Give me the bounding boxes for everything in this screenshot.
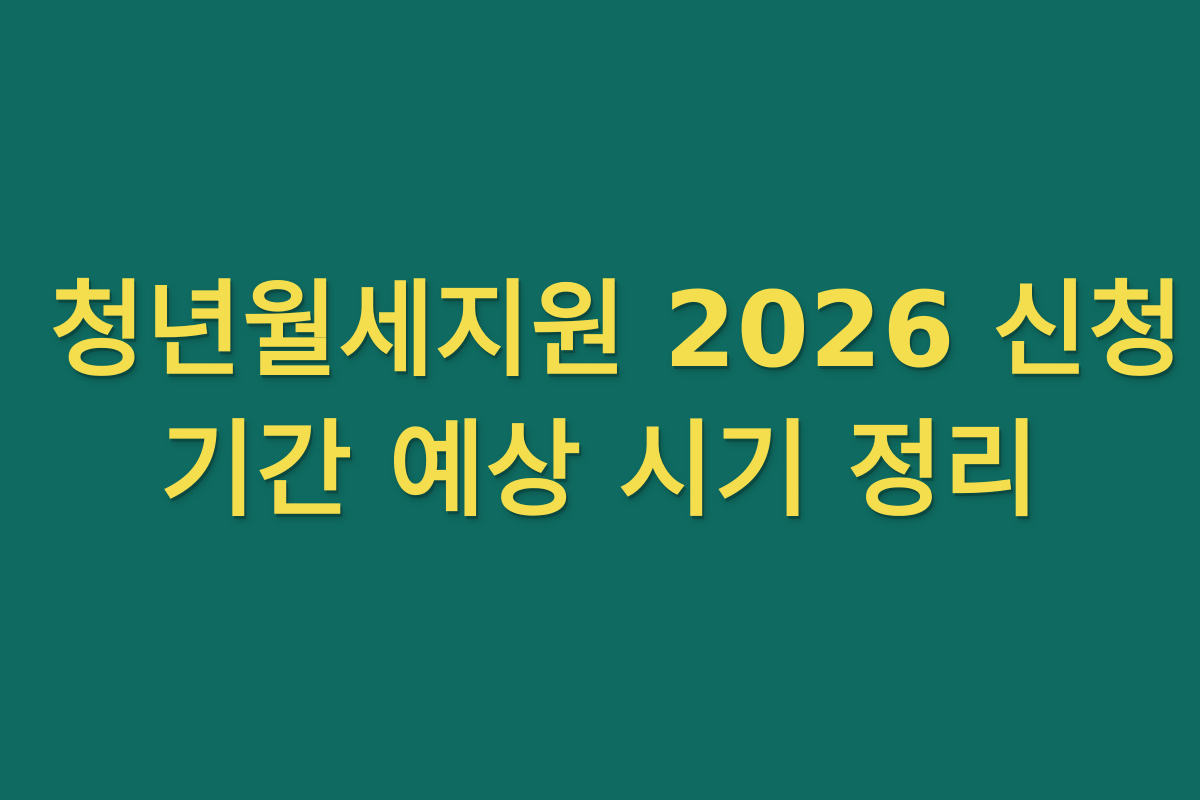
title-line-2: 기간 예상 시기 정리 bbox=[50, 400, 1150, 540]
thumbnail-canvas: 청년월세지원 2026 신청 기간 예상 시기 정리 bbox=[0, 0, 1200, 800]
page-title: 청년월세지원 2026 신청 기간 예상 시기 정리 bbox=[50, 260, 1150, 540]
title-line-1: 청년월세지원 2026 신청 bbox=[50, 260, 1150, 400]
